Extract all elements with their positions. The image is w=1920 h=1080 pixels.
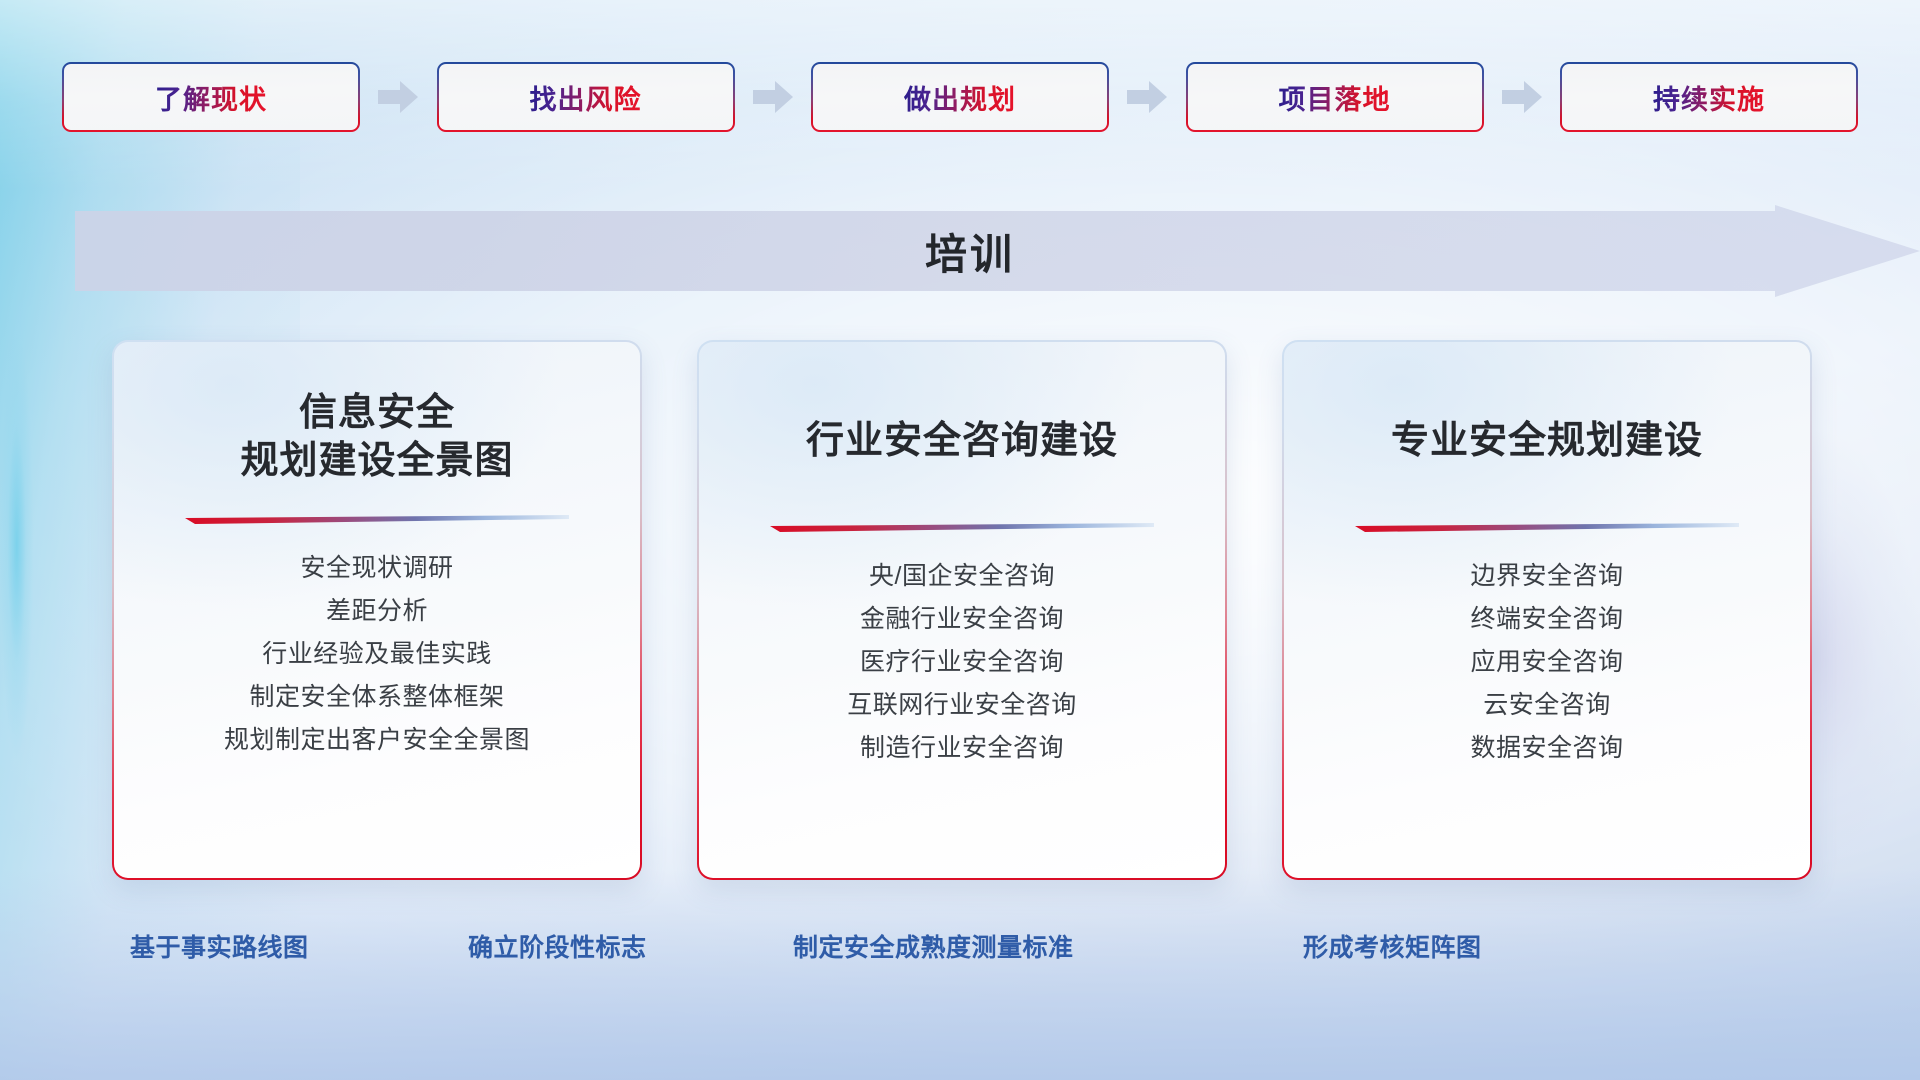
step-label-5: 持续实施 [1653,78,1765,117]
card-2-list: 央/国企安全咨询 金融行业安全咨询 医疗行业安全咨询 互联网行业安全咨询 制造行… [699,564,1225,779]
step-label-2: 找出风险 [530,78,642,117]
list-item: 央/国企安全咨询 [869,564,1055,589]
right-arrow-icon-4 [1500,77,1544,117]
card-3-divider [1355,522,1739,534]
list-item: 行业经验及最佳实践 [262,642,492,667]
step-box-2-inner: 找出风险 [439,64,733,130]
step-box-2[interactable]: 找出风险 [437,62,735,132]
card-3-list: 边界安全咨询 终端安全咨询 应用安全咨询 云安全咨询 数据安全咨询 [1284,564,1810,779]
card-1-inner: 信息安全 规划建设全景图 [114,342,640,878]
list-item: 边界安全咨询 [1470,564,1623,589]
right-arrow-icon-1 [376,77,420,117]
list-item: 制定安全体系整体框架 [249,685,504,710]
card-2-divider [770,522,1154,534]
step-box-4[interactable]: 项目落地 [1186,62,1484,132]
right-arrow-icon-3 [1125,77,1169,117]
step-label-4: 项目落地 [1279,78,1391,117]
bottom-label-3: 制定安全成熟度测量标准 [793,928,1074,964]
list-item: 云安全咨询 [1483,693,1611,718]
step-box-3-inner: 做出规划 [813,64,1107,130]
list-item: 差距分析 [326,599,428,624]
banner-title: 培训 [925,221,1015,282]
card-3-title: 专业安全规划建设 [1391,418,1703,466]
cards-row: 信息安全 规划建设全景图 [112,340,1812,880]
list-item: 金融行业安全咨询 [860,607,1064,632]
list-item: 应用安全咨询 [1470,650,1623,675]
training-banner: 培训 [75,205,1920,297]
step-box-5-inner: 持续实施 [1562,64,1856,130]
bottom-label-1: 基于事实路线图 [130,928,309,964]
card-professional-security-planning[interactable]: 专业安全规划建设 [1282,340,1812,880]
step-box-1-inner: 了解现状 [64,64,358,130]
card-3-inner: 专业安全规划建设 [1284,342,1810,878]
card-1-title: 信息安全 规划建设全景图 [240,390,513,486]
card-1-divider [185,514,569,526]
step-box-1[interactable]: 了解现状 [62,62,360,132]
right-arrow-icon-2 [751,77,795,117]
list-item: 数据安全咨询 [1470,736,1623,761]
list-item: 医疗行业安全咨询 [860,650,1064,675]
banner-label-wrap: 培训 [75,205,1865,297]
list-item: 安全现状调研 [300,556,453,581]
step-box-5[interactable]: 持续实施 [1560,62,1858,132]
list-item: 规划制定出客户安全全景图 [224,728,530,753]
bottom-label-4: 形成考核矩阵图 [1303,928,1482,964]
step-label-3: 做出规划 [904,78,1016,117]
step-label-1: 了解现状 [155,78,267,117]
step-box-3[interactable]: 做出规划 [811,62,1109,132]
bottom-label-2: 确立阶段性标志 [468,928,647,964]
card-2-inner: 行业安全咨询建设 [699,342,1225,878]
bottom-labels-row: 基于事实路线图 确立阶段性标志 制定安全成熟度测量标准 形成考核矩阵图 [0,928,1920,974]
step-box-4-inner: 项目落地 [1188,64,1482,130]
list-item: 终端安全咨询 [1470,607,1623,632]
list-item: 制造行业安全咨询 [860,736,1064,761]
process-steps-row: 了解现状 找出风险 做出规划 项目落地 [62,62,1858,132]
card-2-title: 行业安全咨询建设 [806,418,1118,466]
list-item: 互联网行业安全咨询 [847,693,1077,718]
card-industry-security-consulting[interactable]: 行业安全咨询建设 [697,340,1227,880]
card-1-list: 安全现状调研 差距分析 行业经验及最佳实践 制定安全体系整体框架 规划制定出客户… [114,556,640,771]
card-information-security-panorama[interactable]: 信息安全 规划建设全景图 [112,340,642,880]
background-bottom-band [0,870,1920,1080]
